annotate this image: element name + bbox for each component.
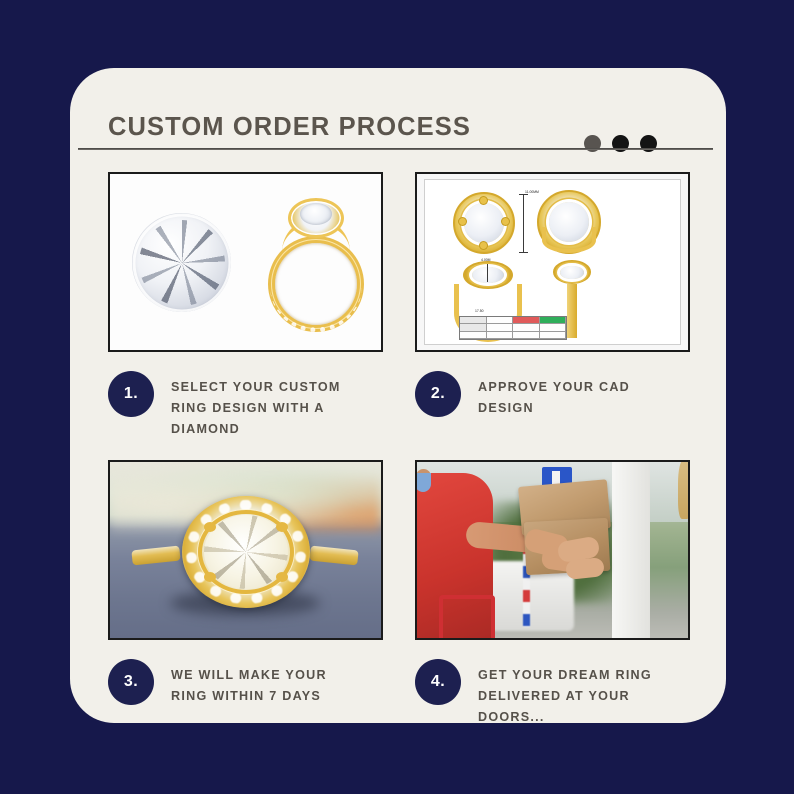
cad-dimension-label: 17.50 [475, 309, 484, 313]
step-row-1: 1. SELECT YOUR CUSTOM RING DESIGN WITH A… [108, 352, 383, 438]
cad-spec-table [459, 316, 567, 340]
steps-grid: 1. SELECT YOUR CUSTOM RING DESIGN WITH A… [108, 172, 690, 726]
cad-spec-cell [540, 324, 567, 331]
step-label-3: WE WILL MAKE YOUR RING WITHIN 7 DAYS [171, 659, 351, 707]
cad-spec-cell [540, 332, 567, 339]
step-card-1: 1. SELECT YOUR CUSTOM RING DESIGN WITH A… [108, 172, 383, 438]
step-label-2: APPROVE YOUR CAD DESIGN [478, 371, 658, 419]
step-card-2: 11.00MM 17.50 4.00M [415, 172, 690, 438]
prong [204, 572, 216, 582]
cad-spec-cell [487, 324, 514, 331]
cad-spec-cell [513, 317, 540, 324]
gold-halo-ring-profile-icon [262, 194, 370, 334]
customer-hair [678, 460, 690, 519]
header-divider [78, 148, 713, 150]
cad-spec-cell [460, 317, 487, 324]
prong [276, 572, 288, 582]
ring-shank-left [131, 546, 180, 566]
cad-prong [480, 197, 487, 204]
step-card-4: 4. GET YOUR DREAM RING DELIVERED AT YOUR… [415, 460, 690, 726]
hand-truck [439, 595, 496, 638]
loose-diamond-icon [132, 213, 231, 312]
step-number-badge-4: 4. [415, 659, 461, 705]
cad-halo-side [553, 260, 592, 284]
package-handoff-delivery-photo[interactable] [415, 460, 690, 640]
cad-spec-cell [487, 332, 514, 339]
ring-center-stone [300, 203, 332, 225]
cad-view-top [453, 192, 515, 254]
cad-spec-table-row [460, 324, 566, 331]
cad-spec-cell [460, 324, 487, 331]
screenshot-root: CUSTOM ORDER PROCESS [0, 0, 794, 794]
step-number-badge-3: 3. [108, 659, 154, 705]
cad-spec-cell [513, 324, 540, 331]
step-label-1: SELECT YOUR CUSTOM RING DESIGN WITH A DI… [171, 371, 351, 440]
cad-spec-cell [540, 317, 567, 324]
cad-spec-table-header-row [460, 317, 566, 324]
finished-halo-ring-photo[interactable] [108, 460, 383, 640]
step-row-3: 3. WE WILL MAKE YOUR RING WITHIN 7 DAYS [108, 640, 383, 726]
diamond-girdle [132, 213, 231, 312]
step-row-4: 4. GET YOUR DREAM RING DELIVERED AT YOUR… [415, 640, 690, 726]
step-label-4: GET YOUR DREAM RING DELIVERED AT YOUR DO… [478, 659, 658, 728]
face-mask-icon [415, 473, 431, 493]
step-number-badge-2: 2. [415, 371, 461, 417]
cad-spec-cell [487, 317, 514, 324]
cad-view-perspective [537, 190, 601, 254]
cad-spec-table-row [460, 332, 566, 339]
cad-prong [459, 218, 466, 225]
cad-sheet-canvas: 11.00MM 17.50 4.00M [424, 179, 681, 345]
cad-shank-persp [542, 227, 596, 253]
step-number-badge-1: 1. [108, 371, 154, 417]
cad-spec-cell [460, 332, 487, 339]
cad-design-sheet[interactable]: 11.00MM 17.50 4.00M [415, 172, 690, 352]
step-row-2: 2. APPROVE YOUR CAD DESIGN [415, 352, 690, 438]
cad-dimension-label: 4.00M [481, 258, 490, 262]
cad-prong [480, 242, 487, 249]
loose-diamond-and-gold-ring-photo[interactable] [108, 172, 383, 352]
cad-dimension-tick [519, 252, 528, 253]
ring-halo-pave [182, 496, 310, 608]
prong [276, 522, 288, 532]
cad-dimension-line-vertical [523, 194, 524, 252]
cad-band-side [567, 284, 577, 338]
cad-spec-cell [513, 332, 540, 339]
cad-prong [502, 218, 509, 225]
step-card-3: 3. WE WILL MAKE YOUR RING WITHIN 7 DAYS [108, 460, 383, 726]
process-card: CUSTOM ORDER PROCESS [70, 68, 726, 723]
ring-shank-right [309, 546, 358, 566]
cad-dimension-tick [519, 194, 528, 195]
cad-dimension-tick [487, 264, 488, 282]
prong [204, 522, 216, 532]
